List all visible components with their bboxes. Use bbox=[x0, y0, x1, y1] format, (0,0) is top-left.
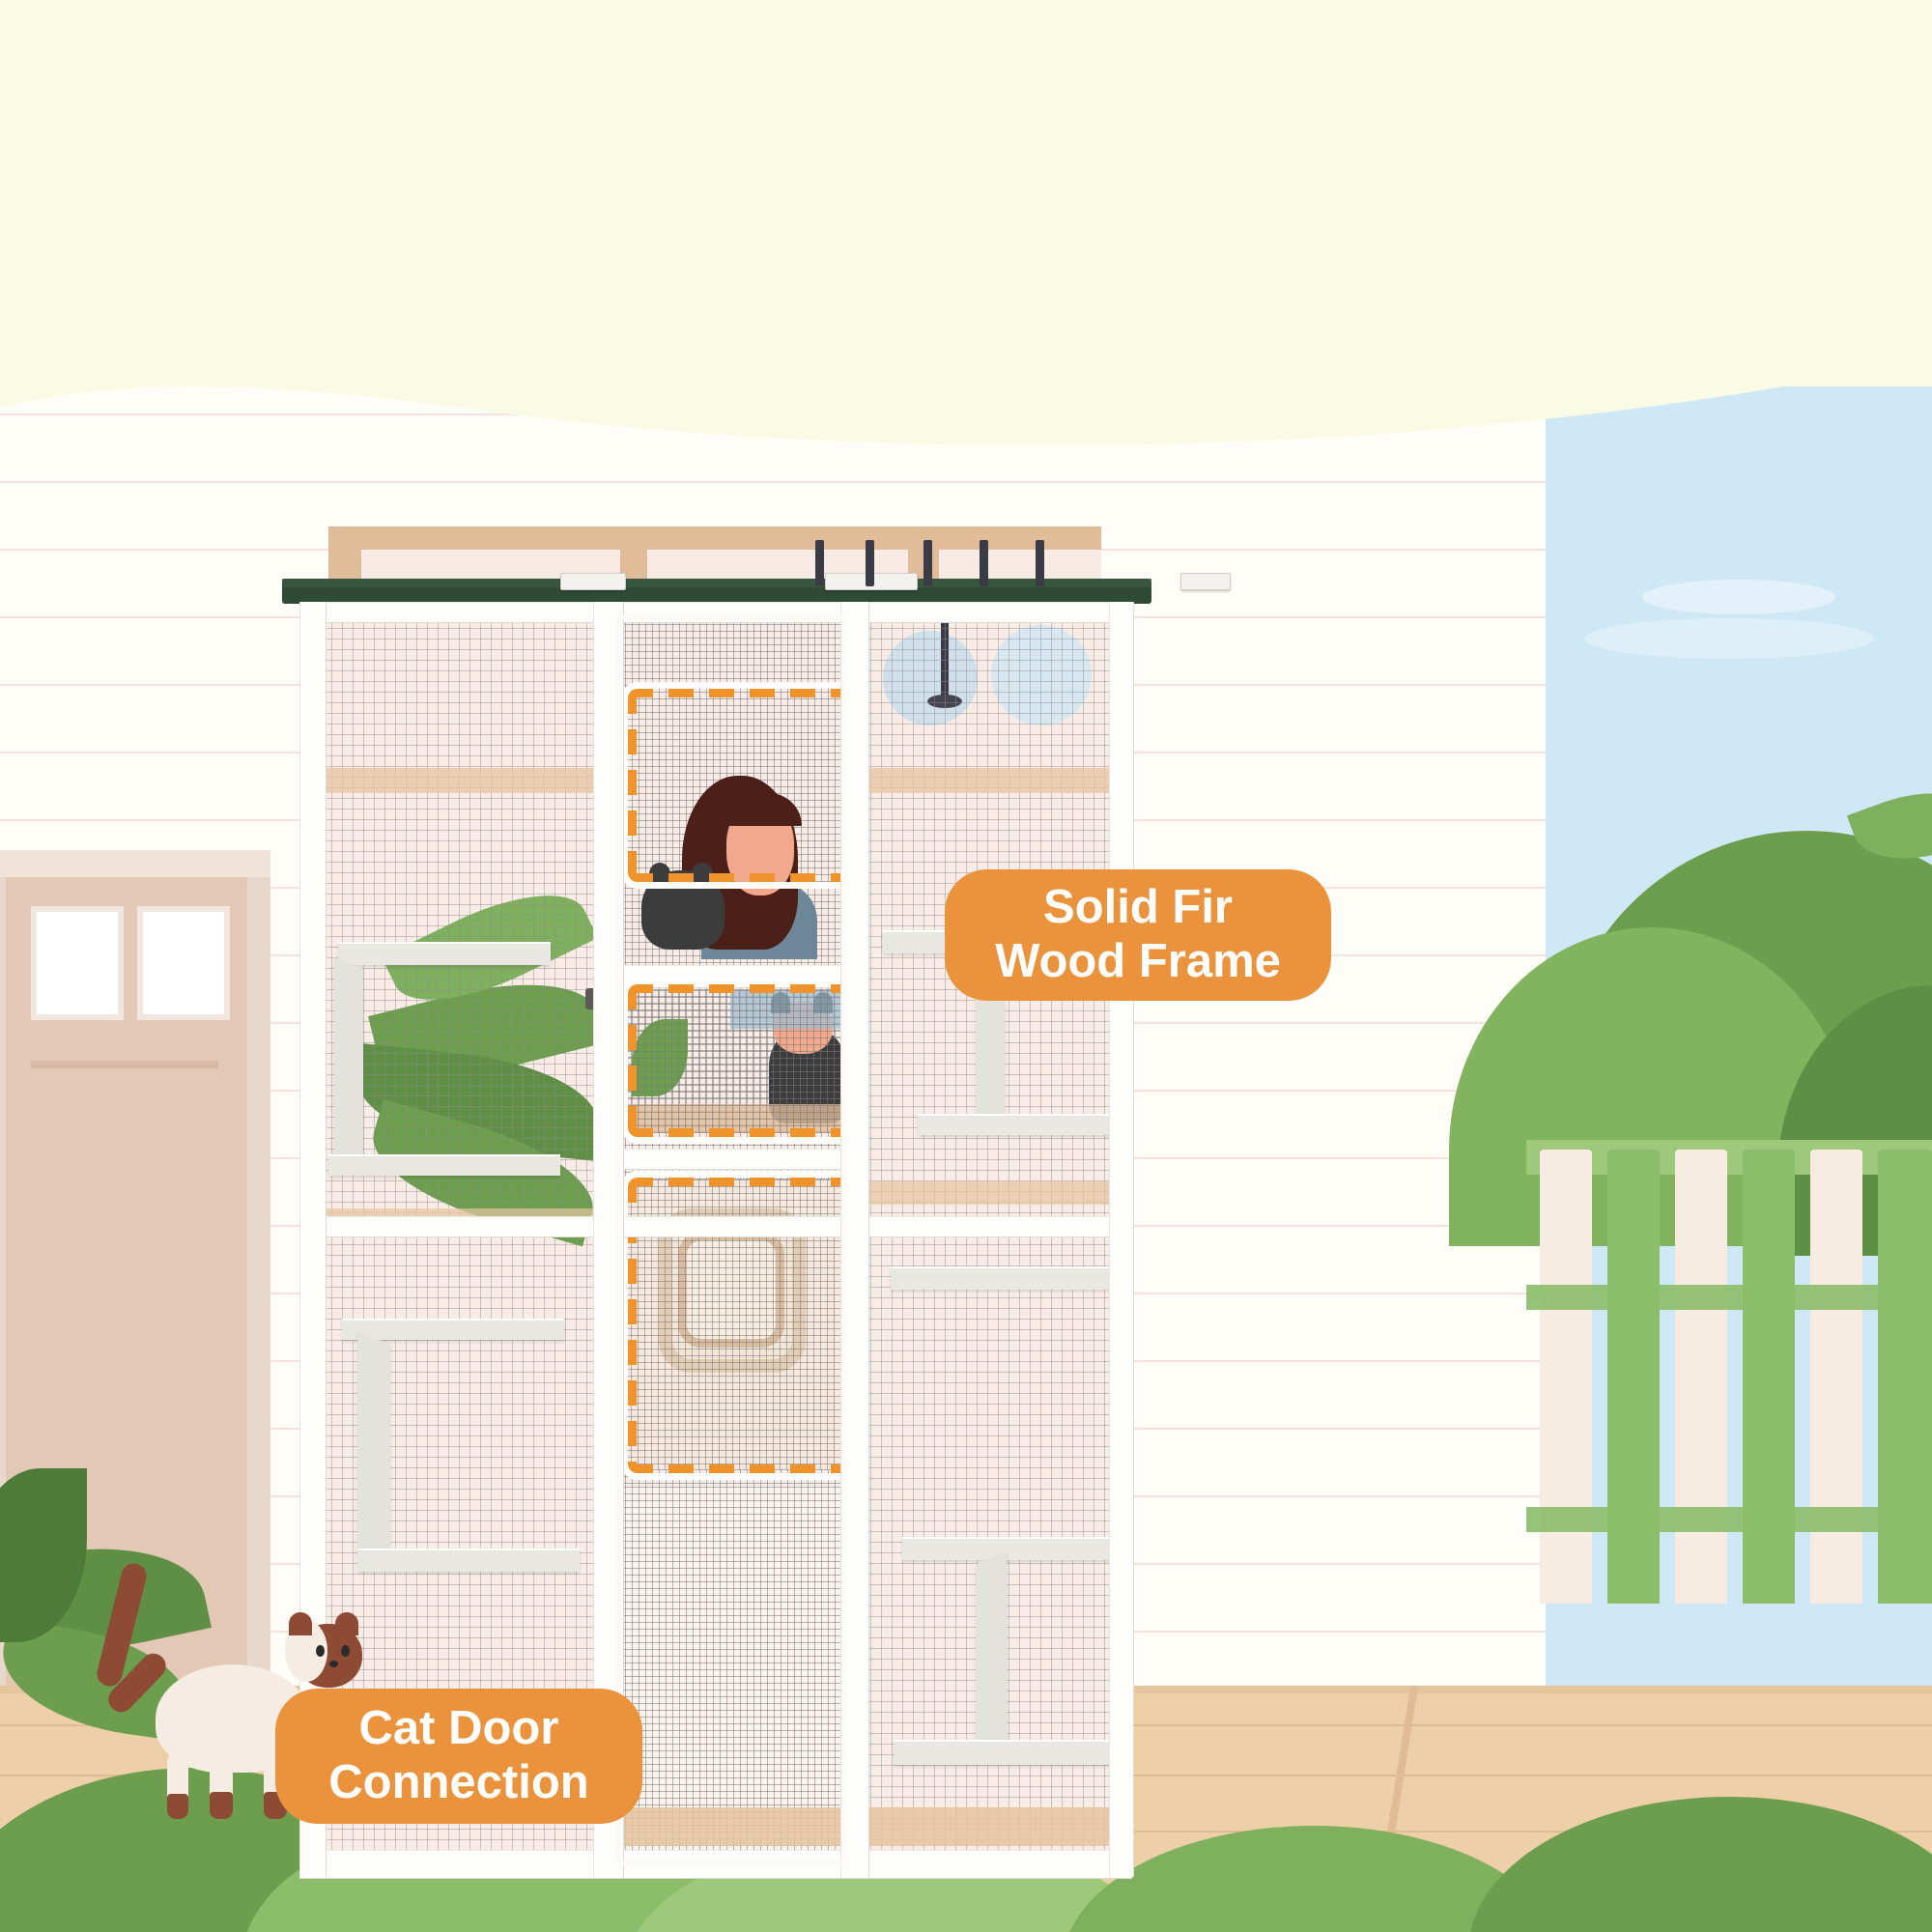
fence-picket bbox=[1540, 1150, 1592, 1604]
badge-line-2: Connection bbox=[328, 1756, 588, 1810]
fence-picket bbox=[1743, 1150, 1795, 1604]
cloud-shape bbox=[1584, 618, 1874, 659]
cat-paw bbox=[210, 1792, 233, 1819]
cat-shelf bbox=[891, 1266, 1113, 1290]
cat-ear bbox=[335, 1612, 358, 1635]
support-rod bbox=[866, 540, 874, 586]
fence-picket bbox=[1810, 1150, 1862, 1604]
roof-asphalt-sheet bbox=[282, 579, 1151, 604]
fence-picket bbox=[1675, 1150, 1727, 1604]
wood-crossbar bbox=[860, 1807, 1113, 1846]
cat-ramp bbox=[976, 1552, 1007, 1758]
cat-shelf bbox=[902, 1537, 1113, 1560]
cat-nose bbox=[329, 1661, 338, 1667]
door-panel bbox=[31, 1061, 218, 1068]
cat-ramp bbox=[357, 1332, 390, 1566]
cat-shelf bbox=[357, 1548, 580, 1572]
support-rod bbox=[980, 540, 988, 586]
cat-shelf bbox=[338, 942, 551, 965]
badge-line-2: Wood Frame bbox=[995, 935, 1281, 989]
cat-ear bbox=[289, 1612, 312, 1635]
fence-rail-bottom bbox=[1526, 1507, 1932, 1532]
wood-crossbar bbox=[860, 768, 1113, 793]
house-door-header-trim bbox=[0, 850, 270, 877]
wire-mesh-left bbox=[321, 617, 597, 1863]
header-band bbox=[0, 0, 1932, 386]
cat-eye bbox=[341, 1645, 350, 1657]
badge-line-1: Cat Door bbox=[328, 1702, 588, 1756]
cat-eye bbox=[316, 1645, 325, 1657]
roof-mount-plate bbox=[560, 573, 626, 590]
wood-crossbar bbox=[860, 1181, 1113, 1205]
wood-crossbar bbox=[321, 768, 597, 793]
roof-mount-plate bbox=[1180, 573, 1231, 590]
fence-rail-mid bbox=[1526, 1285, 1932, 1310]
cat-paw bbox=[167, 1794, 188, 1819]
support-rod bbox=[1036, 540, 1044, 586]
marketing-image: DIY DESIGN Can be connected to a window … bbox=[0, 0, 1932, 1932]
cat-shelf bbox=[328, 1154, 560, 1176]
door-window-pane bbox=[31, 906, 124, 1020]
cloud-shape bbox=[1642, 580, 1835, 614]
cat-shelf bbox=[342, 1319, 564, 1340]
door-window-pane bbox=[137, 906, 230, 1020]
badge-line-1: Solid Fir bbox=[995, 881, 1281, 935]
support-rod bbox=[923, 540, 932, 586]
catio-body bbox=[299, 602, 1132, 1877]
center-door-bezel bbox=[616, 615, 846, 1865]
fence-picket bbox=[1607, 1150, 1660, 1604]
badge-solid-fir-wood-frame: Solid Fir Wood Frame bbox=[945, 869, 1331, 1001]
badge-cat-door-connection: Cat Door Connection bbox=[275, 1689, 642, 1824]
cat-shelf bbox=[895, 1740, 1113, 1765]
support-rod bbox=[815, 540, 824, 586]
cat-ramp bbox=[334, 957, 363, 1172]
frame-post-right bbox=[1109, 602, 1134, 1877]
cat-shelf bbox=[918, 1114, 1111, 1135]
fence-picket bbox=[1878, 1150, 1932, 1604]
